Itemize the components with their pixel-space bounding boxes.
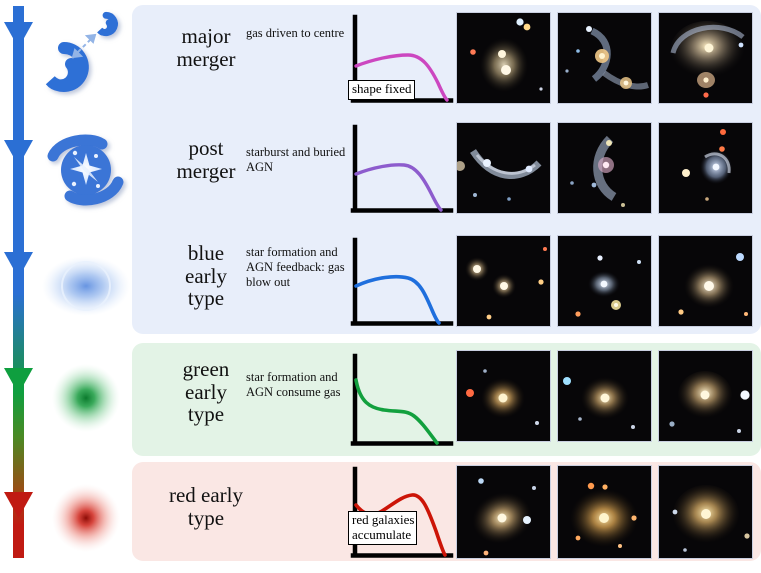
galaxy-thumbnail[interactable] xyxy=(557,12,652,104)
stage-name-line: type xyxy=(142,507,270,530)
starburst-galaxy-icon xyxy=(40,120,132,220)
stage-row-blue-early-type: blue early type star formation and AGN f… xyxy=(132,230,761,335)
thumbnail-strip-blue-early-type xyxy=(456,235,753,327)
stage-row-major-merger: major merger gas driven to centre shape … xyxy=(132,5,761,110)
galaxy-thumbnail[interactable] xyxy=(456,12,551,104)
blue-elliptical-icon xyxy=(40,238,132,334)
stage-name-line: type xyxy=(150,403,262,426)
galaxy-thumbnail[interactable] xyxy=(557,122,652,214)
stage-description-post-merger: starburst and buried AGN xyxy=(246,145,352,175)
stage-name-line: type xyxy=(150,287,262,310)
red-elliptical-icon xyxy=(40,468,132,568)
galaxy-thumbnail[interactable] xyxy=(557,465,652,559)
thumbnail-strip-red-early-type xyxy=(456,465,753,559)
stage-description-major-merger: gas driven to centre xyxy=(246,26,352,41)
galaxy-thumbnail[interactable] xyxy=(456,235,551,327)
green-elliptical-icon xyxy=(40,348,132,448)
stage-description-blue-early-type: star formation and AGN feedback: gas blo… xyxy=(246,245,352,289)
galaxy-thumbnail[interactable] xyxy=(456,465,551,559)
galaxy-thumbnail[interactable] xyxy=(557,350,652,442)
stage-row-green-early-type: green early type star formation and AGN … xyxy=(132,345,761,455)
stage-icon-column xyxy=(40,0,132,564)
plot-green-early-type xyxy=(346,350,458,450)
plot-post-merger xyxy=(346,121,458,217)
two-spiral-galaxies-icon xyxy=(40,2,132,112)
stage-name-line: red early xyxy=(142,484,270,507)
plot-blue-early-type xyxy=(346,234,458,330)
galaxy-thumbnail[interactable] xyxy=(658,12,753,104)
galaxy-thumbnail[interactable] xyxy=(557,235,652,327)
galaxy-thumbnail[interactable] xyxy=(456,350,551,442)
figure-canvas: major merger gas driven to centre shape … xyxy=(0,0,761,564)
thumbnail-strip-post-merger xyxy=(456,122,753,214)
galaxy-thumbnail[interactable] xyxy=(658,122,753,214)
plot-note-red-galaxies-accumulate: red galaxies accumulate xyxy=(348,511,417,545)
galaxy-thumbnail[interactable] xyxy=(658,235,753,327)
stage-row-post-merger: post merger starburst and buried AGN xyxy=(132,115,761,220)
galaxy-thumbnail[interactable] xyxy=(456,122,551,214)
stage-row-red-early-type: red early type red galaxies accumulate xyxy=(132,462,761,562)
stage-name-red-early-type: red early type xyxy=(142,484,270,529)
thumbnail-strip-green-early-type xyxy=(456,350,753,442)
galaxy-thumbnail[interactable] xyxy=(658,465,753,559)
stage-description-green-early-type: star formation and AGN consume gas xyxy=(246,370,352,400)
galaxy-thumbnail[interactable] xyxy=(658,350,753,442)
plot-note-shape-fixed: shape fixed xyxy=(348,80,415,100)
stage-name-line: merger xyxy=(150,48,262,71)
thumbnail-strip-major-merger xyxy=(456,12,753,104)
